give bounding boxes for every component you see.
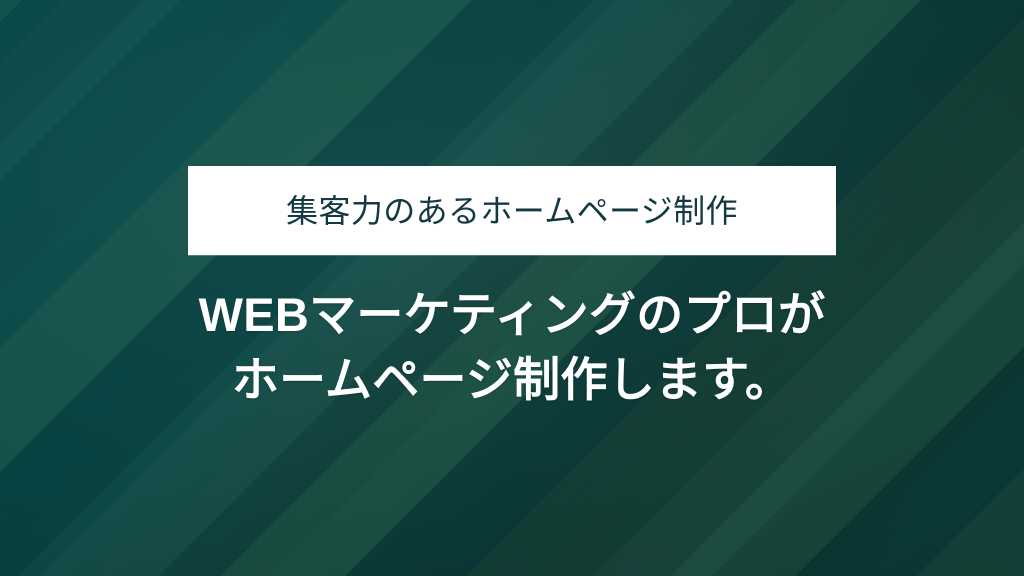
tagline-banner-text: 集客力のあるホームページ制作: [286, 195, 738, 227]
headline-line-2: ホームページ制作します。: [0, 348, 1024, 413]
headline-line-1: WEBマーケティングのプロが: [0, 283, 1024, 348]
slide-content: 集客力のあるホームページ制作 WEBマーケティングのプロが ホームページ制作しま…: [0, 0, 1024, 576]
tagline-banner: 集客力のあるホームページ制作: [188, 166, 836, 255]
slide-canvas: 集客力のあるホームページ制作 WEBマーケティングのプロが ホームページ制作しま…: [0, 0, 1024, 576]
headline-block: WEBマーケティングのプロが ホームページ制作します。: [0, 283, 1024, 413]
